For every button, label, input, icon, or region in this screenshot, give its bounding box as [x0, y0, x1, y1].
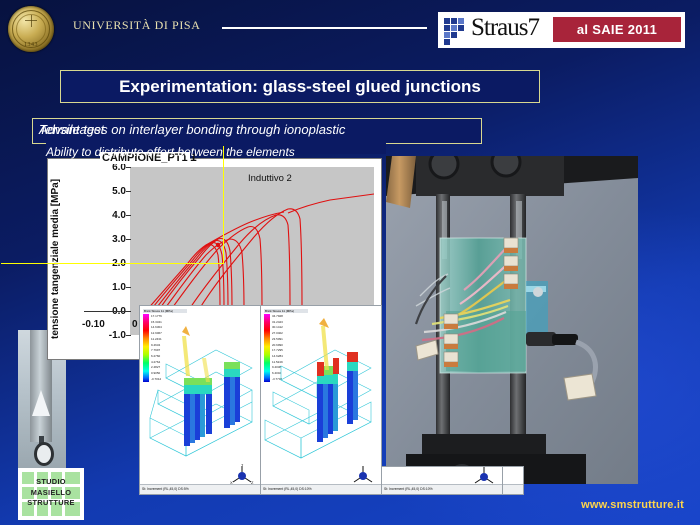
- fe-legend-title-1: Brick Stress 11 (MPa): [143, 309, 187, 313]
- xtick-neg010: -0.10: [82, 319, 105, 330]
- fe-model-panel-3: St: Increment (RL,45,0) DS:10%: [381, 466, 503, 495]
- fe-model-panel-4: [502, 466, 524, 495]
- logo-line-2: MASIELLO: [22, 488, 80, 499]
- specimen-photo: [386, 156, 638, 484]
- website-link[interactable]: www.smstrutture.it: [581, 499, 684, 511]
- chart-y-axis-label: tensione tangenziale media [MPa]: [50, 173, 68, 345]
- fe-model-panel-1: Brick Stress 11 (MPa) 17.1776 15.3341 14…: [139, 305, 261, 495]
- svg-text:Y: Y: [241, 464, 244, 467]
- bullet-overlay-text: Tensile test: [39, 122, 104, 137]
- fe-status-bar-4: [503, 484, 523, 494]
- fe-status-text-1: St: Increment (RL,45,0) DS:5%: [140, 485, 260, 494]
- seal-year: 1343: [8, 42, 54, 48]
- straus7-wordmark: Straus7: [471, 14, 539, 42]
- fe-status-text-2: St: Increment (RL,45,0) DS:10%: [261, 485, 381, 494]
- fe-model-panel-2: Brick Stress 11 (MPa) 34.7928 31.2423 30…: [260, 305, 382, 495]
- header-divider-line: [222, 27, 427, 29]
- fe-legend-title-2: Brick Stress 11 (MPa): [264, 309, 308, 313]
- university-name: UNIVERSITÀ DI PISA: [73, 18, 200, 33]
- fe-axis-triad-1: Y X Z: [230, 464, 254, 484]
- slide-title-box: Experimentation: glass-steel glued junct…: [60, 70, 540, 103]
- fe-status-text-3: St: Increment (RL,45,0) DS:10%: [382, 485, 502, 494]
- fe-axis-triad-3: [472, 466, 496, 485]
- specimen-photo-graphic: [386, 156, 638, 484]
- ytick-5: 5.0: [84, 186, 126, 197]
- ytick-3: 3.0: [84, 234, 126, 245]
- straus7-logo: Straus7 al SAIE 2011: [438, 12, 685, 48]
- straus7-squares-icon: [444, 18, 468, 42]
- fe-status-bar-1: St: Increment (RL,45,0) DS:5%: [140, 484, 260, 494]
- xtick-0: 0: [132, 319, 138, 330]
- ytick-neg1: -1.0: [84, 330, 126, 341]
- logo-grid-icon: STUDIO MASIELLO STRUTTURE: [22, 472, 80, 516]
- logo-line-1: STUDIO: [22, 477, 80, 488]
- logo-line-3: STRUTTURE: [22, 498, 80, 509]
- fe-mesh-1: [140, 318, 260, 488]
- fe-status-bar-3: St: Increment (RL,45,0) DS:10%: [382, 484, 502, 494]
- ytick-1: 1.0: [84, 282, 126, 293]
- university-seal-icon: 1343: [8, 6, 54, 52]
- bullet-secondary-text: Ability to distribute effort between the…: [46, 145, 295, 159]
- studio-masiello-logo: STUDIO MASIELLO STRUTTURE: [18, 468, 84, 520]
- chart-marker-horizontal: [1, 263, 223, 264]
- slide-canvas: 1343 UNIVERSITÀ DI PISA Straus7 al SAIE …: [0, 0, 700, 525]
- fe-mesh-2: [261, 318, 381, 488]
- fe-status-bar-2: St: Increment (RL,45,0) DS:10%: [261, 484, 381, 494]
- chart-marker-vertical: [223, 146, 224, 264]
- fe-axis-triad-2: [351, 464, 375, 484]
- saie-badge: al SAIE 2011: [553, 17, 681, 42]
- bullet-box-primary: Advantages on interlayer bonding through…: [32, 118, 482, 144]
- page-title: Experimentation: glass-steel glued junct…: [61, 71, 539, 102]
- slide-header: 1343 UNIVERSITÀ DI PISA Straus7 al SAIE …: [0, 0, 700, 58]
- ytick-4: 4.0: [84, 210, 126, 221]
